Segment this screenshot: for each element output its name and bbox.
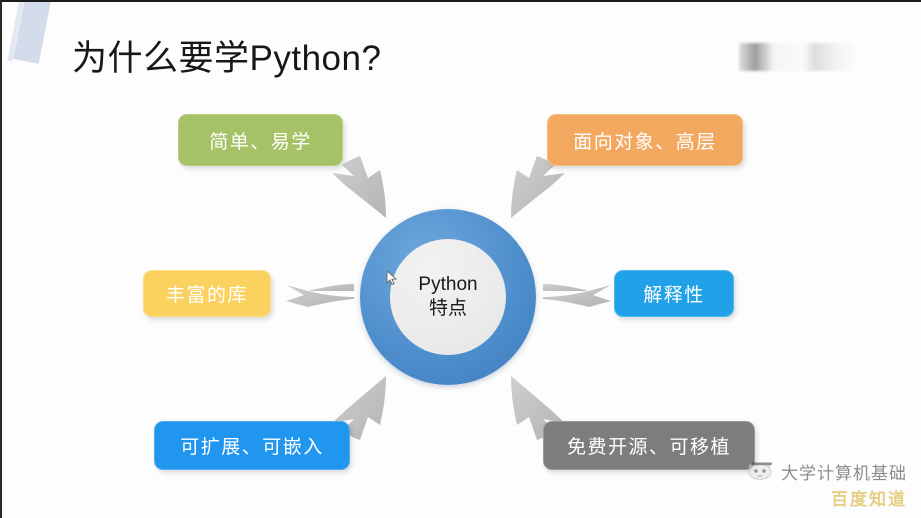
arrow-to-interpreted: [543, 284, 611, 307]
center-hub-circle[interactable]: Python 特点: [360, 209, 536, 385]
node-extensible[interactable]: 可扩展、可嵌入: [154, 421, 350, 470]
hub-label-line1: Python: [418, 274, 477, 296]
center-hub-inner: Python 特点: [390, 239, 506, 355]
panda-face-icon: [747, 462, 777, 481]
watermark-course-text: 大学计算机基础: [781, 459, 907, 484]
watermark-brand-text: 百度知道: [747, 485, 907, 510]
watermark-bottom-right: 大学计算机基础 百度知道: [747, 459, 907, 510]
node-opensource[interactable]: 免费开源、可移植: [543, 421, 755, 470]
node-simple[interactable]: 简单、易学: [178, 114, 343, 166]
arrow-to-simple: [332, 156, 386, 218]
mouse-cursor-icon: [386, 271, 397, 285]
watermark-top-right: [739, 43, 854, 71]
arrow-to-libraries: [286, 284, 354, 307]
slide-canvas: 为什么要学Python?: [0, 0, 921, 518]
node-libraries[interactable]: 丰富的库: [143, 270, 271, 317]
node-interpreted[interactable]: 解释性: [614, 270, 734, 317]
watermark-course-row: 大学计算机基础: [747, 459, 907, 484]
page-title: 为什么要学Python?: [72, 38, 381, 80]
hub-label-line2: 特点: [429, 298, 467, 320]
node-oop[interactable]: 面向对象、高层: [547, 114, 743, 166]
